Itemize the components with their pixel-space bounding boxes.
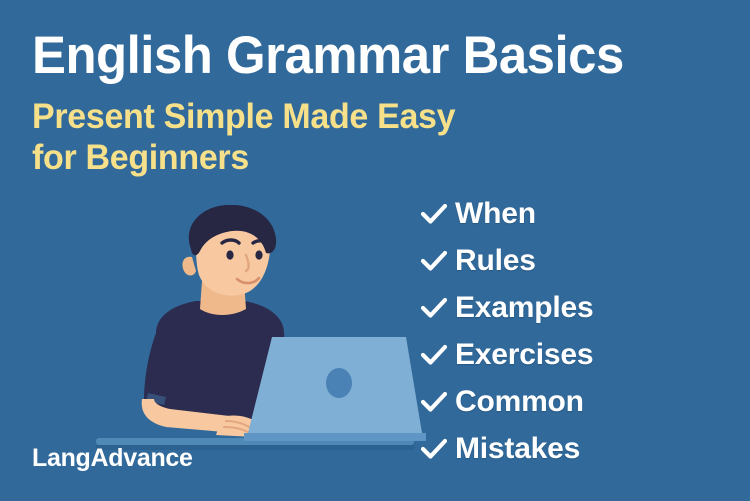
checklist-label: Common bbox=[455, 385, 584, 419]
laptop bbox=[244, 337, 426, 441]
check-icon bbox=[421, 203, 455, 225]
headline-block: English Grammar Basics Present Simple Ma… bbox=[32, 28, 722, 179]
checklist-label: Examples bbox=[455, 291, 593, 325]
checklist-item-examples: Examples bbox=[421, 284, 731, 331]
brand-logo: LangAdvance bbox=[32, 444, 193, 473]
head bbox=[182, 205, 276, 296]
check-icon bbox=[421, 344, 455, 366]
illustration-man-with-laptop bbox=[96, 205, 426, 475]
checklist-item-when: When bbox=[421, 190, 731, 237]
check-icon bbox=[421, 297, 455, 319]
poster-subtitle: Present Simple Made Easy for Beginners bbox=[32, 96, 701, 179]
feature-checklist: When Rules Examples Exercises Common bbox=[421, 190, 731, 472]
checklist-item-exercises: Exercises bbox=[421, 331, 731, 378]
checklist-label: Mistakes bbox=[455, 432, 580, 466]
checklist-label: Rules bbox=[455, 244, 536, 278]
checklist-item-rules: Rules bbox=[421, 237, 731, 284]
page-title: English Grammar Basics bbox=[32, 28, 694, 84]
checklist-item-common: Common bbox=[421, 378, 731, 425]
checklist-item-mistakes: Mistakes bbox=[421, 425, 731, 472]
subtitle-line-2: for Beginners bbox=[32, 137, 701, 178]
poster-canvas: English Grammar Basics Present Simple Ma… bbox=[0, 0, 750, 501]
subtitle-line-1: Present Simple Made Easy bbox=[32, 96, 701, 137]
checklist-label: When bbox=[455, 197, 536, 231]
check-icon bbox=[421, 250, 455, 272]
check-icon bbox=[421, 438, 455, 460]
checklist-label: Exercises bbox=[455, 338, 593, 372]
check-icon bbox=[421, 391, 455, 413]
